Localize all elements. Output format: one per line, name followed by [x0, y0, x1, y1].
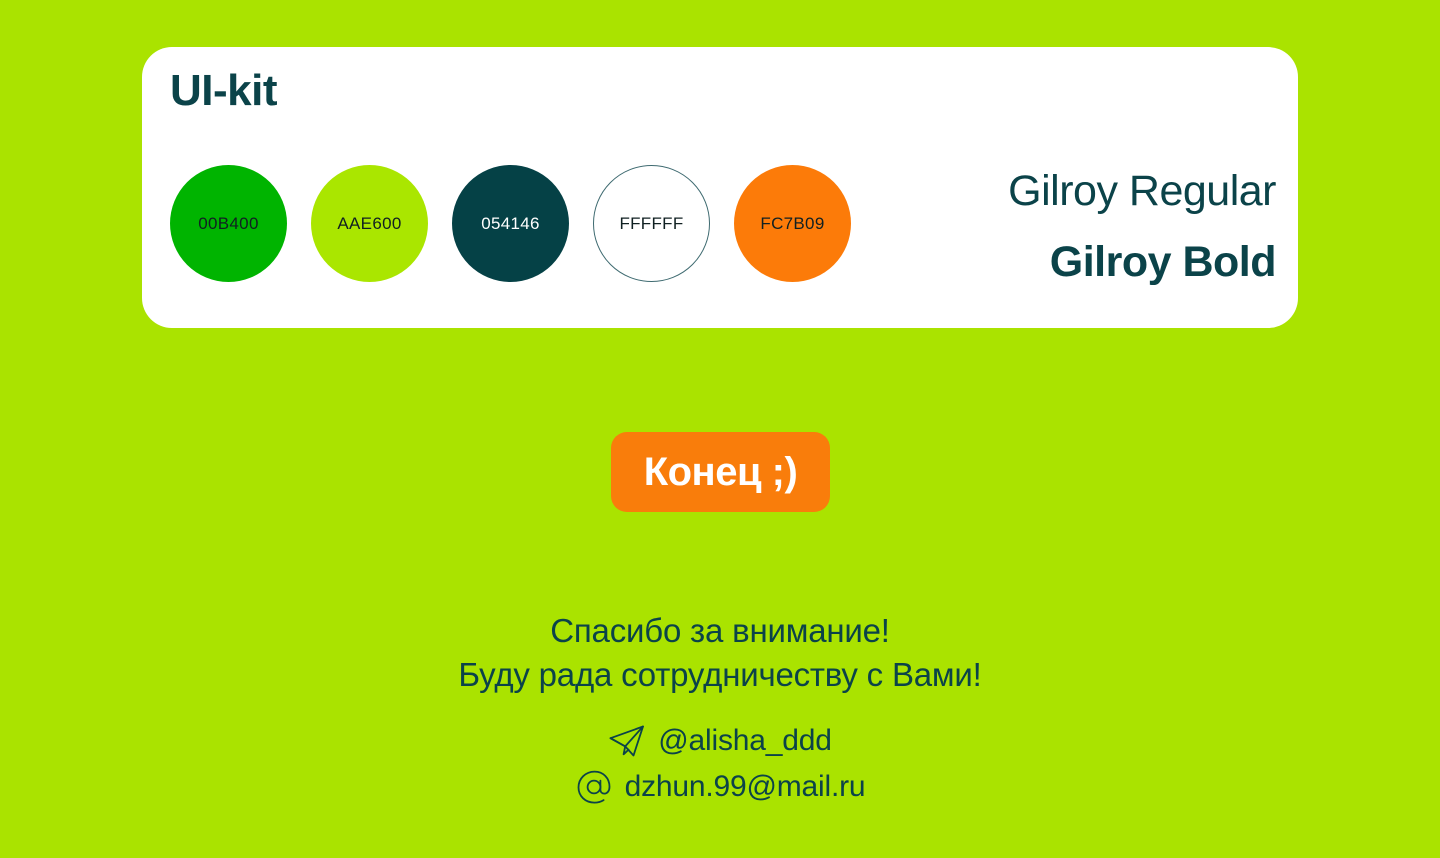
color-swatch-label: 00B400 [198, 214, 258, 234]
color-swatch-row: 00B400 AAE600 054146 FFFFFF FC7B09 [170, 165, 875, 282]
color-swatch[interactable]: FC7B09 [734, 165, 851, 282]
email-at-icon [575, 768, 613, 806]
color-swatch-label: 054146 [481, 214, 540, 234]
font-regular-label: Gilroy Regular [1008, 167, 1276, 216]
contact-email[interactable]: dzhun.99@mail.ru [575, 768, 866, 806]
color-swatch-label: AAE600 [337, 214, 401, 234]
email-address: dzhun.99@mail.ru [625, 772, 866, 802]
color-swatch[interactable]: AAE600 [311, 165, 428, 282]
color-swatch-label: FC7B09 [760, 214, 824, 234]
color-swatch[interactable]: FFFFFF [593, 165, 710, 282]
telegram-handle: @alisha_ddd [658, 726, 831, 756]
thanks-line-1: Спасибо за внимание! [0, 612, 1440, 650]
typography-block: Gilroy Regular Gilroy Bold [1008, 167, 1276, 288]
color-swatch[interactable]: 00B400 [170, 165, 287, 282]
thanks-message: Спасибо за внимание! Буду рада сотруднич… [0, 612, 1440, 694]
color-swatch-label: FFFFFF [619, 214, 683, 234]
telegram-icon [608, 722, 646, 760]
contacts-list: @alisha_ddd dzhun.99@mail.ru [0, 722, 1440, 814]
color-swatch[interactable]: 054146 [452, 165, 569, 282]
end-button[interactable]: Конец ;) [611, 432, 830, 512]
font-bold-label: Gilroy Bold [1008, 238, 1276, 287]
page-title: UI-kit [170, 69, 277, 113]
uikit-card: UI-kit 00B400 AAE600 054146 FFFFFF FC7B0… [142, 47, 1298, 328]
contact-telegram[interactable]: @alisha_ddd [608, 722, 831, 760]
thanks-line-2: Буду рада сотрудничеству с Вами! [0, 656, 1440, 694]
